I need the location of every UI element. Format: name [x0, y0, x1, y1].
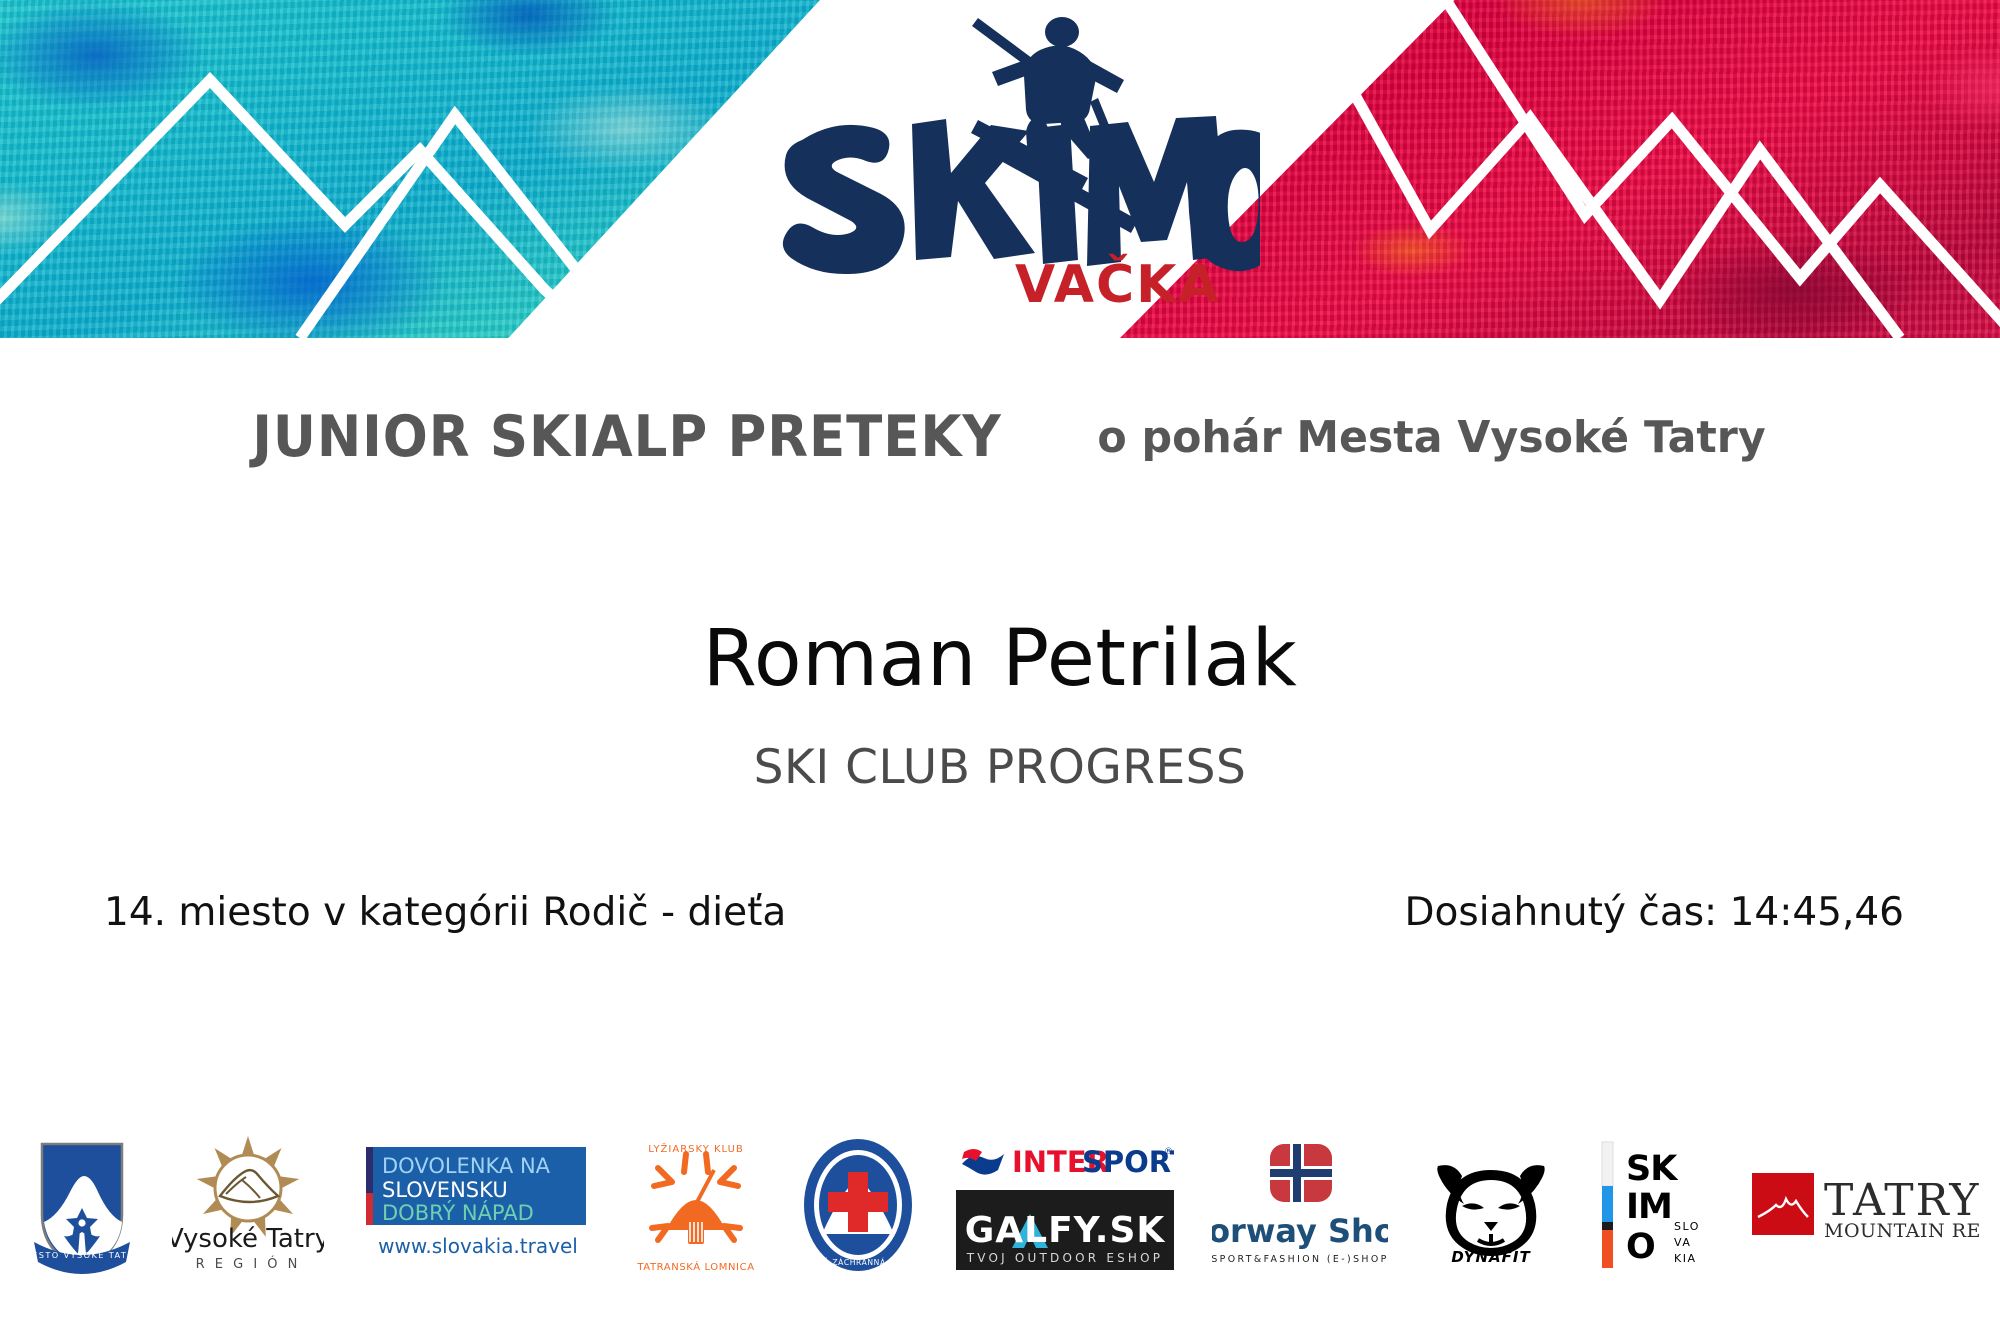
tmr-subtitle: MOUNTAIN RESORTS — [1824, 1220, 1980, 1242]
slovakia-line2: SLOVENSKU — [382, 1178, 508, 1202]
sponsor-logo-intersport-galfy[interactable]: INTER SPORT ® GALFY.SK TVOJ OUTDOOR ESHO… — [956, 1140, 1174, 1270]
athlete-name: Roman Petrilak — [0, 614, 2000, 704]
leopard-head-icon — [1437, 1165, 1544, 1256]
slovakia-line1: DOVOLENKA NA — [382, 1154, 551, 1178]
sponsor-logo-dynafit[interactable]: DYNAFIT — [1426, 1144, 1556, 1266]
sponsor-logo-mesto-vysoke-tatry[interactable]: MESTO VYSOKÉ TATRY — [30, 1130, 134, 1280]
sponsor-logo-slovakia-travel[interactable]: DOVOLENKA NA SLOVENSKU DOBRÝ NÁPAD www.s… — [362, 1139, 594, 1271]
sponsor-logo-horska-zachranna-sluzba[interactable]: HORSKÁ ZÁCHRANNÁ SLUŽBA — [798, 1134, 918, 1276]
dynafit-name: DYNAFIT — [1451, 1248, 1531, 1266]
skimo-sk-line: SK — [1626, 1149, 1679, 1189]
time-text: Dosiahnutý čas: 14:45,46 — [1405, 890, 1904, 935]
skimo-wordmark — [783, 116, 1260, 274]
skimo-side2: VA — [1674, 1236, 1691, 1249]
sponsor-subtitle: R E G I Ó N — [196, 1256, 301, 1272]
result-row: 14. miesto v kategórii Rodič - dieťa Dos… — [104, 890, 1904, 935]
klub-bottom-text: TATRANSKÁ LOMNICA — [636, 1260, 754, 1273]
event-title-row: JUNIOR SKIALP PRETEKY o pohár Mesta Vyso… — [0, 404, 2000, 470]
skimo-side1: SLO — [1674, 1220, 1700, 1233]
athlete-club: SKI CLUB PROGRESS — [0, 740, 2000, 795]
tmr-name: TATRY — [1824, 1175, 1980, 1226]
sponsor-logo-norway-shop[interactable]: Norway Shop SPORT&FASHION (E-)SHOP — [1212, 1134, 1388, 1276]
norway-tagline: SPORT&FASHION (E-)SHOP — [1212, 1254, 1388, 1265]
sponsor-logo-skimo-slovakia[interactable]: SK IM O SLO VA KIA — [1594, 1134, 1712, 1276]
sponsor-logo-intersport: INTER SPORT ® — [956, 1140, 1174, 1182]
slovakia-line3: DOBRÝ NÁPAD — [382, 1200, 534, 1225]
placement-text: 14. miesto v kategórii Rodič - dieťa — [104, 890, 786, 935]
slovakia-url: www.slovakia.travel — [378, 1234, 578, 1258]
skimo-subword: VAČKA — [1015, 253, 1221, 315]
intersport-trademark: ® — [1164, 1147, 1173, 1157]
crest-ribbon-text: MESTO VYSOKÉ TATRY — [30, 1249, 134, 1260]
event-title-main: JUNIOR SKIALP PRETEKY — [252, 404, 1002, 470]
hzs-text: HORSKÁ ZÁCHRANNÁ SLUŽBA — [798, 1258, 918, 1267]
intersport-part2: SPORT — [1082, 1145, 1174, 1179]
sponsor-logo-tatry-mountain-resorts[interactable]: TATRY MOUNTAIN RESORTS — [1750, 1155, 1980, 1255]
galfy-name: GALFY.SK — [965, 1210, 1166, 1251]
sponsor-logo-lyziarsky-klub[interactable]: LYŽIARSKY KLUB TATRANSKÁ LOMNICA — [632, 1134, 760, 1276]
skimo-im-line: IM — [1626, 1187, 1672, 1227]
norway-name: Norway Shop — [1212, 1212, 1388, 1250]
sponsor-name: Vysoké Tatry — [172, 1224, 324, 1254]
header-banner: VAČKA — [0, 0, 2000, 338]
event-title-sub: o pohár Mesta Vysoké Tatry — [1097, 412, 1765, 463]
galfy-tagline: TVOJ OUTDOOR ESHOP — [966, 1251, 1163, 1265]
sponsor-logo-galfy: GALFY.SK TVOJ OUTDOOR ESHOP — [956, 1190, 1174, 1270]
sponsor-strip: MESTO VYSOKÉ TATRY Vysoké Tatr — [30, 1110, 1980, 1300]
skimo-logo: VAČKA — [740, 2, 1260, 322]
sponsor-logo-vysoke-tatry-region[interactable]: Vysoké Tatry R E G I Ó N — [172, 1130, 324, 1280]
certificate: VAČKA JUNIOR SKIALP PRETEKY o pohár Mest… — [0, 0, 2000, 1334]
skimo-side3: KIA — [1674, 1252, 1696, 1265]
klub-top-text: LYŽIARSKY KLUB — [648, 1142, 744, 1155]
skimo-o-line: O — [1626, 1227, 1656, 1267]
